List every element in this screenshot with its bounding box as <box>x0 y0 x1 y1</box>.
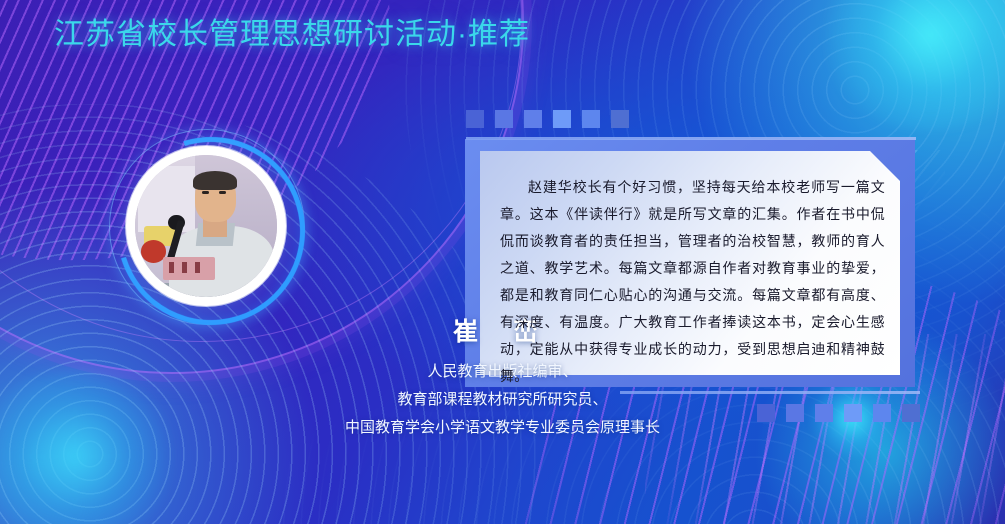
square-3 <box>815 404 833 422</box>
photo-whiteboard <box>138 166 195 231</box>
presentation-slide: 江苏省校长管理思想研讨活动·推荐 崔 峦 人民教育出版社编审、 <box>0 0 1005 524</box>
photo-eye-left <box>202 191 209 195</box>
speaker-avatar <box>126 146 286 306</box>
square-1 <box>757 404 775 422</box>
square-5 <box>582 110 600 128</box>
square-6 <box>902 404 920 422</box>
decorative-squares-bottom <box>757 404 920 422</box>
square-1 <box>466 110 484 128</box>
speaker-photo <box>135 155 277 297</box>
square-3 <box>524 110 542 128</box>
square-4 <box>553 110 571 128</box>
photo-hair <box>193 171 237 191</box>
photo-eye-right <box>219 191 226 195</box>
square-2 <box>786 404 804 422</box>
accent-bar-bottom <box>620 391 920 394</box>
square-5 <box>873 404 891 422</box>
recommendation-body: 赵建华校长有个好习惯，坚持每天给本校老师写一篇文章。这本《伴读伴行》就是所写文章… <box>500 175 885 391</box>
cyan-glow-top-right <box>815 0 1005 130</box>
accent-bar-top <box>466 137 916 140</box>
photo-name-card-text <box>169 262 206 273</box>
square-4 <box>844 404 862 422</box>
decorative-squares-top <box>466 110 629 128</box>
square-6 <box>611 110 629 128</box>
recommendation-text-container: 赵建华校长有个好习惯，坚持每天给本校老师写一篇文章。这本《伴读伴行》就是所写文章… <box>500 175 885 391</box>
slide-title: 江苏省校长管理思想研讨活动·推荐 <box>54 9 530 53</box>
photo-red-object <box>141 240 167 263</box>
square-2 <box>495 110 513 128</box>
